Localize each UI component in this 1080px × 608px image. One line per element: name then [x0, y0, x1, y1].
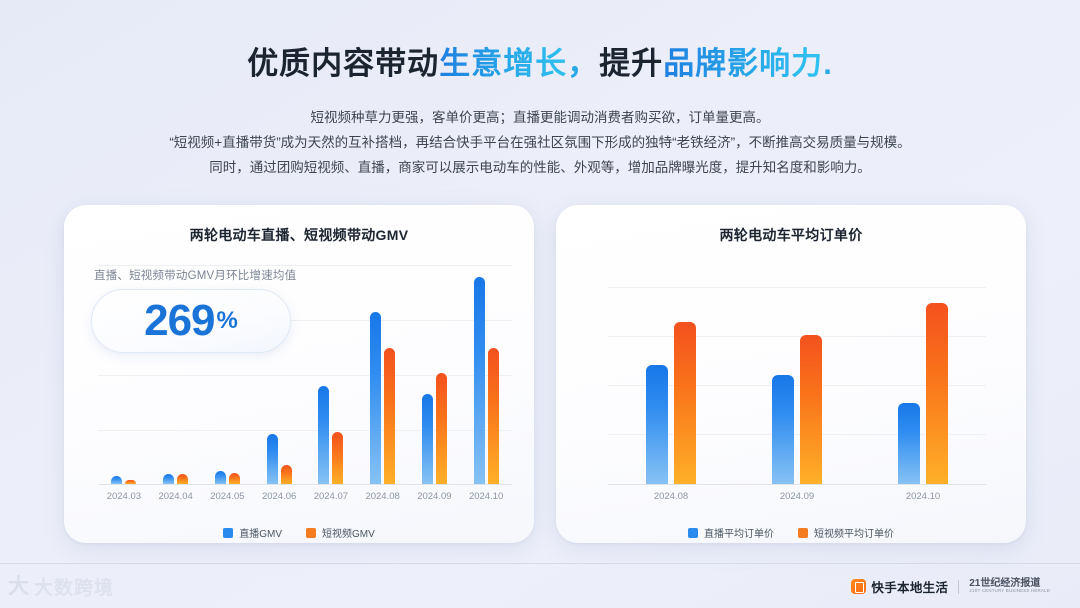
- x-axis-label: 2024.10: [469, 491, 503, 502]
- x-axis-label: 2024.05: [210, 491, 244, 502]
- bar-orange[interactable]: [926, 303, 948, 484]
- bar-blue[interactable]: [898, 403, 920, 484]
- kuaishou-logo: 快手本地生活: [851, 577, 948, 596]
- x-axis-label: 2024.06: [262, 491, 296, 502]
- footer-divider: [0, 563, 1080, 564]
- legend-label: 短视频平均订单价: [814, 525, 894, 540]
- legend-label: 短视频GMV: [322, 525, 375, 540]
- bar-orange[interactable]: [125, 480, 136, 484]
- bar-group: [898, 303, 948, 484]
- watermark-label: 大数跨境: [34, 573, 114, 600]
- title-part-1: 优质内容带动: [247, 46, 439, 81]
- partner-label: 21世纪经济报道: [969, 578, 1040, 589]
- partner-sublabel: 21ST CENTURY BUSINESS HERALD: [969, 589, 1050, 594]
- bar-orange[interactable]: [177, 474, 188, 484]
- bar-group: [267, 434, 292, 484]
- bar-blue[interactable]: [772, 375, 794, 484]
- legend-swatch-icon: [223, 528, 233, 538]
- bar-orange[interactable]: [488, 348, 499, 484]
- footer-branding: 快手本地生活 21世纪经济报道 21ST CENTURY BUSINESS HE…: [851, 577, 1050, 596]
- bar-blue[interactable]: [422, 394, 433, 484]
- legend-swatch-icon: [688, 528, 698, 538]
- bar-group: [422, 373, 447, 484]
- card-title-left: 两轮电动车直播、短视频带动GMV: [64, 225, 534, 245]
- kpi-value: 269: [144, 299, 214, 343]
- bar-blue[interactable]: [163, 474, 174, 484]
- x-axis-label: 2024.10: [906, 491, 940, 502]
- bar-orange[interactable]: [384, 348, 395, 484]
- title-period: .: [823, 46, 833, 81]
- legend-left: 直播GMV短视频GMV: [64, 525, 534, 540]
- legend-item[interactable]: 直播平均订单价: [688, 525, 774, 540]
- legend-label: 直播平均订单价: [704, 525, 774, 540]
- bar-group: [111, 476, 136, 484]
- title-section: 优质内容带动生意增长，提升品牌影响力.: [0, 0, 1080, 83]
- title-highlight-1: 生意增长: [439, 46, 567, 81]
- bar-orange[interactable]: [800, 335, 822, 484]
- bar-group: [772, 335, 822, 484]
- title-part-3: 提升: [599, 46, 663, 81]
- subtitle-line-1: 短视频种草力更强，客单价更高；直播更能调动消费者购买欲，订单量更高。: [0, 105, 1080, 130]
- legend-swatch-icon: [306, 528, 316, 538]
- legend-right: 直播平均订单价短视频平均订单价: [556, 525, 1026, 540]
- x-axis-label: 2024.09: [417, 491, 451, 502]
- partner-logo: 21世纪经济报道 21ST CENTURY BUSINESS HERALD: [969, 579, 1050, 594]
- footer-separator: [958, 580, 959, 594]
- legend-item[interactable]: 短视频平均订单价: [798, 525, 894, 540]
- x-axis-line: [608, 484, 986, 485]
- bar-blue[interactable]: [111, 476, 122, 484]
- bar-blue[interactable]: [474, 277, 485, 484]
- bar-blue[interactable]: [267, 434, 278, 484]
- plot-area-right: [608, 287, 986, 485]
- bar-group: [646, 322, 696, 484]
- bar-blue[interactable]: [318, 386, 329, 484]
- watermark-icon: 大: [8, 576, 29, 597]
- x-axis-label: 2024.09: [780, 491, 814, 502]
- bar-group: [474, 277, 499, 484]
- x-axis-labels-right: 2024.082024.092024.10: [608, 491, 986, 502]
- chart-cards-row: 两轮电动车直播、短视频带动GMV 直播、短视频带动GMV月环比增速均值 269%…: [64, 205, 1026, 543]
- bar-group: [318, 386, 343, 484]
- x-axis-line: [98, 484, 512, 485]
- x-axis-label: 2024.08: [365, 491, 399, 502]
- bar-orange[interactable]: [332, 432, 343, 484]
- bar-orange[interactable]: [229, 473, 240, 484]
- bar-blue[interactable]: [370, 312, 381, 484]
- bar-orange[interactable]: [674, 322, 696, 484]
- kpi-caption: 直播、短视频带动GMV月环比增速均值: [94, 267, 296, 283]
- page-title: 优质内容带动生意增长，提升品牌影响力.: [0, 38, 1080, 83]
- bar-group: [370, 312, 395, 484]
- watermark: 大 大数跨境: [8, 573, 114, 600]
- subtitle-paragraph: 短视频种草力更强，客单价更高；直播更能调动消费者购买欲，订单量更高。 “短视频+…: [0, 105, 1080, 180]
- subtitle-line-3: 同时，通过团购短视频、直播，商家可以展示电动车的性能、外观等，增加品牌曝光度，提…: [0, 155, 1080, 180]
- x-axis-label: 2024.03: [107, 491, 141, 502]
- bar-blue[interactable]: [215, 471, 226, 484]
- bar-group: [215, 471, 240, 484]
- kuaishou-mark-icon: [851, 579, 866, 594]
- subtitle-line-2: “短视频+直播带货”成为天然的互补搭档，再结合快手平台在强社区氛围下形成的独特“…: [0, 130, 1080, 155]
- kuaishou-brand-label: 快手本地生活: [871, 577, 948, 596]
- kpi-unit: %: [217, 307, 238, 335]
- legend-swatch-icon: [798, 528, 808, 538]
- legend-label: 直播GMV: [239, 525, 282, 540]
- x-axis-label: 2024.07: [314, 491, 348, 502]
- x-axis-label: 2024.08: [654, 491, 688, 502]
- title-highlight-2: 品牌影响力: [663, 46, 823, 81]
- bar-orange[interactable]: [281, 465, 292, 484]
- x-axis-labels-left: 2024.032024.042024.052024.062024.072024.…: [98, 491, 512, 502]
- bar-group: [163, 474, 188, 484]
- legend-item[interactable]: 直播GMV: [223, 525, 282, 540]
- chart-right: 2024.082024.092024.10 直播平均订单价短视频平均订单价: [556, 257, 1026, 543]
- card-order-price-chart: 两轮电动车平均订单价 2024.082024.092024.10 直播平均订单价…: [556, 205, 1026, 543]
- bar-group-container-right: [608, 287, 986, 484]
- kpi-badge: 269%: [91, 289, 291, 353]
- card-gmv-chart: 两轮电动车直播、短视频带动GMV 直播、短视频带动GMV月环比增速均值 269%…: [64, 205, 534, 543]
- card-title-right: 两轮电动车平均订单价: [556, 225, 1026, 245]
- legend-item[interactable]: 短视频GMV: [306, 525, 375, 540]
- bar-blue[interactable]: [646, 365, 668, 484]
- title-comma: ，: [567, 46, 599, 81]
- bar-orange[interactable]: [436, 373, 447, 484]
- x-axis-label: 2024.04: [158, 491, 192, 502]
